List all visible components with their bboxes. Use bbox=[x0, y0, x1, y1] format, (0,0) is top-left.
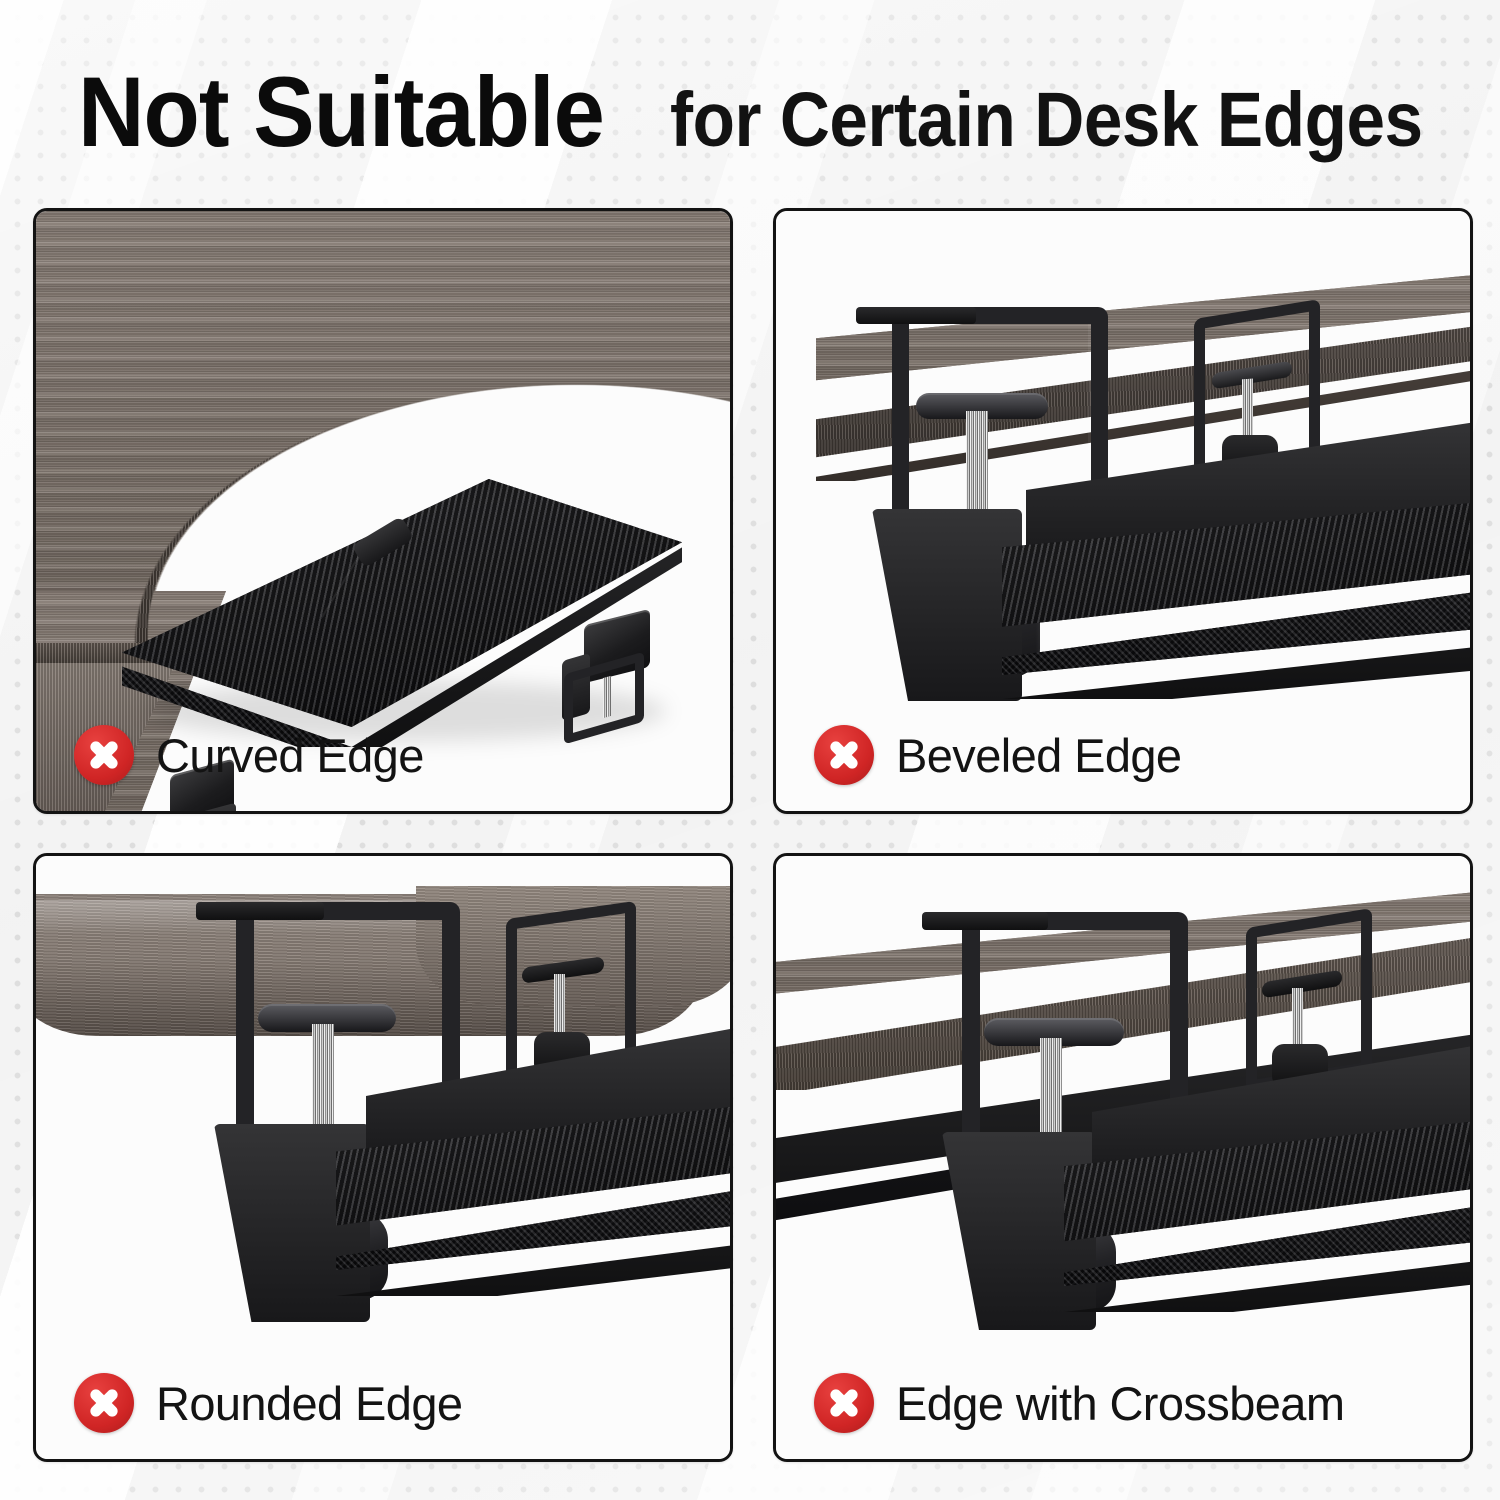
x-circle-icon bbox=[74, 725, 134, 785]
caption-label: Edge with Crossbeam bbox=[896, 1376, 1344, 1431]
panel-curved-edge: Curved Edge bbox=[33, 208, 733, 814]
caption-edge-with-crossbeam: Edge with Crossbeam bbox=[814, 1373, 1344, 1433]
caption-rounded-edge: Rounded Edge bbox=[74, 1373, 462, 1433]
caption-curved-edge: Curved Edge bbox=[74, 725, 424, 785]
title-strong: Not Suitable bbox=[78, 62, 604, 161]
caption-label: Beveled Edge bbox=[896, 728, 1181, 783]
panel-edge-with-crossbeam: Edge with Crossbeam bbox=[773, 853, 1473, 1462]
panel-grid: Curved Edge bbox=[33, 208, 1467, 1456]
panel-beveled-edge: Beveled Edge bbox=[773, 208, 1473, 814]
caption-label: Rounded Edge bbox=[156, 1376, 462, 1431]
clamp-top-jaw-near bbox=[922, 912, 1048, 930]
scene-edge-with-crossbeam bbox=[776, 856, 1470, 1459]
page-title: Not Suitable for Certain Desk Edges bbox=[78, 62, 1478, 167]
infographic-root: Not Suitable for Certain Desk Edges bbox=[0, 0, 1500, 1500]
panel-rounded-edge: Rounded Edge bbox=[33, 853, 733, 1462]
clamp-lower-jaw-near bbox=[872, 509, 1022, 701]
x-circle-icon bbox=[814, 725, 874, 785]
clamp-screw-right bbox=[603, 676, 611, 718]
caption-label: Curved Edge bbox=[156, 728, 424, 783]
scene-curved-edge bbox=[36, 211, 730, 811]
scene-beveled-edge bbox=[776, 211, 1470, 811]
clamp-top-jaw-near bbox=[196, 902, 324, 920]
scene-rounded-edge bbox=[36, 856, 730, 1459]
caption-beveled-edge: Beveled Edge bbox=[814, 725, 1181, 785]
x-circle-icon bbox=[74, 1373, 134, 1433]
title-light: for Certain Desk Edges bbox=[670, 82, 1423, 159]
x-circle-icon bbox=[814, 1373, 874, 1433]
clamp-top-jaw-near bbox=[856, 307, 976, 324]
